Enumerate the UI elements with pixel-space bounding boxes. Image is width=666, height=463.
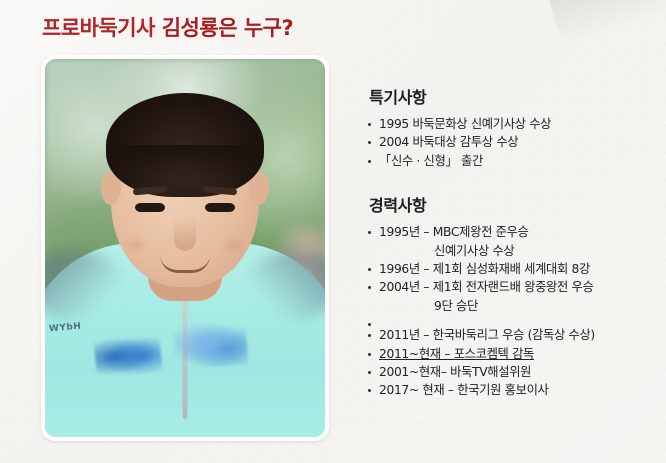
list-item: 2004년 – 제1회 전자랜드배 왕중왕전 우승 9단 승단 xyxy=(366,278,662,315)
list-item-text: 2011년 – 한국바둑리그 우승 (감독상 수상) xyxy=(379,328,595,342)
list-spacer xyxy=(366,315,662,326)
person-eye-left xyxy=(135,203,165,212)
list-item-text: 1996년 – 제1회 심성화재배 세계대회 8강 xyxy=(379,262,590,276)
profile-card-page: 프로바둑기사 김성룡은 누구? WYbH Ca xyxy=(0,0,666,463)
list-item: 1995년 – MBC제왕전 준우승 신예기사상 수상 xyxy=(366,223,662,260)
section-career: 경력사항 1995년 – MBC제왕전 준우승 신예기사상 수상 1996년 –… xyxy=(366,192,662,400)
person-eye-right xyxy=(205,203,235,212)
section-specialty: 특기사항 1995 바둑문화상 신예기사상 수상 2004 바둑대상 감투상 수… xyxy=(366,84,662,170)
specialty-list: 1995 바둑문화상 신예기사상 수상 2004 바둑대상 감투상 수상 「신수… xyxy=(366,115,662,170)
list-item: 1996년 – 제1회 심성화재배 세계대회 8강 xyxy=(366,260,662,278)
list-item: 2001~현재– 바둑TV해설위원 xyxy=(366,363,662,381)
list-item-text: 2004 바둑대상 감투상 수상 xyxy=(379,135,518,149)
list-item-text: 2011~현재 – 포스코켐텍 감독 xyxy=(379,347,534,361)
list-item-continuation: 신예기사상 수상 xyxy=(379,242,662,260)
jacket-patch-text-right: Ca xyxy=(324,339,325,349)
jacket-patch-text-left: WYbH xyxy=(49,322,82,335)
page-title-prefix: 프로바둑기사 xyxy=(42,16,162,40)
jacket-sponsor-logo-left xyxy=(93,332,163,379)
jacket-sponsor-logo-right xyxy=(172,320,249,369)
portrait-photo-frame: WYbH Ca xyxy=(41,55,329,441)
list-item: 2011~현재 – 포스코켐텍 감독 xyxy=(366,345,662,363)
paper-fold-shading xyxy=(549,0,666,67)
list-item: 「신수 · 신형」 출간 xyxy=(366,152,662,170)
profile-details: 특기사항 1995 바둑문화상 신예기사상 수상 2004 바둑대상 감투상 수… xyxy=(366,84,662,402)
list-item-text: 1995년 – MBC제왕전 준우승 xyxy=(379,225,528,239)
jacket-shoulder-shadow-right xyxy=(249,251,325,321)
page-title-name: 김성룡은 누구? xyxy=(162,16,293,40)
section-specialty-heading: 특기사항 xyxy=(369,84,662,108)
list-item-text: 2001~현재– 바둑TV해설위원 xyxy=(379,365,531,379)
list-item: 2011년 – 한국바둑리그 우승 (감독상 수상) xyxy=(366,326,662,344)
list-item-text: 1995 바둑문화상 신예기사상 수상 xyxy=(379,117,551,131)
list-item: 2004 바둑대상 감투상 수상 xyxy=(366,133,662,151)
list-item: 2017~ 현재 – 한국기원 홍보이사 xyxy=(366,381,662,399)
person-cheek-left xyxy=(123,235,149,255)
list-item-continuation: 9단 승단 xyxy=(379,297,662,315)
career-list: 1995년 – MBC제왕전 준우승 신예기사상 수상 1996년 – 제1회 … xyxy=(366,223,662,400)
list-item-text: 「신수 · 신형」 출간 xyxy=(379,154,483,168)
section-career-heading: 경력사항 xyxy=(369,192,662,216)
list-item: 1995 바둑문화상 신예기사상 수상 xyxy=(366,115,662,133)
jacket-shoulder-shadow-left xyxy=(45,251,121,321)
person-nose xyxy=(174,217,196,251)
portrait-photo: WYbH Ca xyxy=(45,59,325,437)
list-item-text: 2017~ 현재 – 한국기원 홍보이사 xyxy=(379,383,549,397)
person-cheek-right xyxy=(221,235,247,255)
list-item-text: 2004년 – 제1회 전자랜드배 왕중왕전 우승 xyxy=(379,280,593,294)
page-title: 프로바둑기사 김성룡은 누구? xyxy=(42,12,293,42)
person-hair-fringe xyxy=(110,145,260,183)
